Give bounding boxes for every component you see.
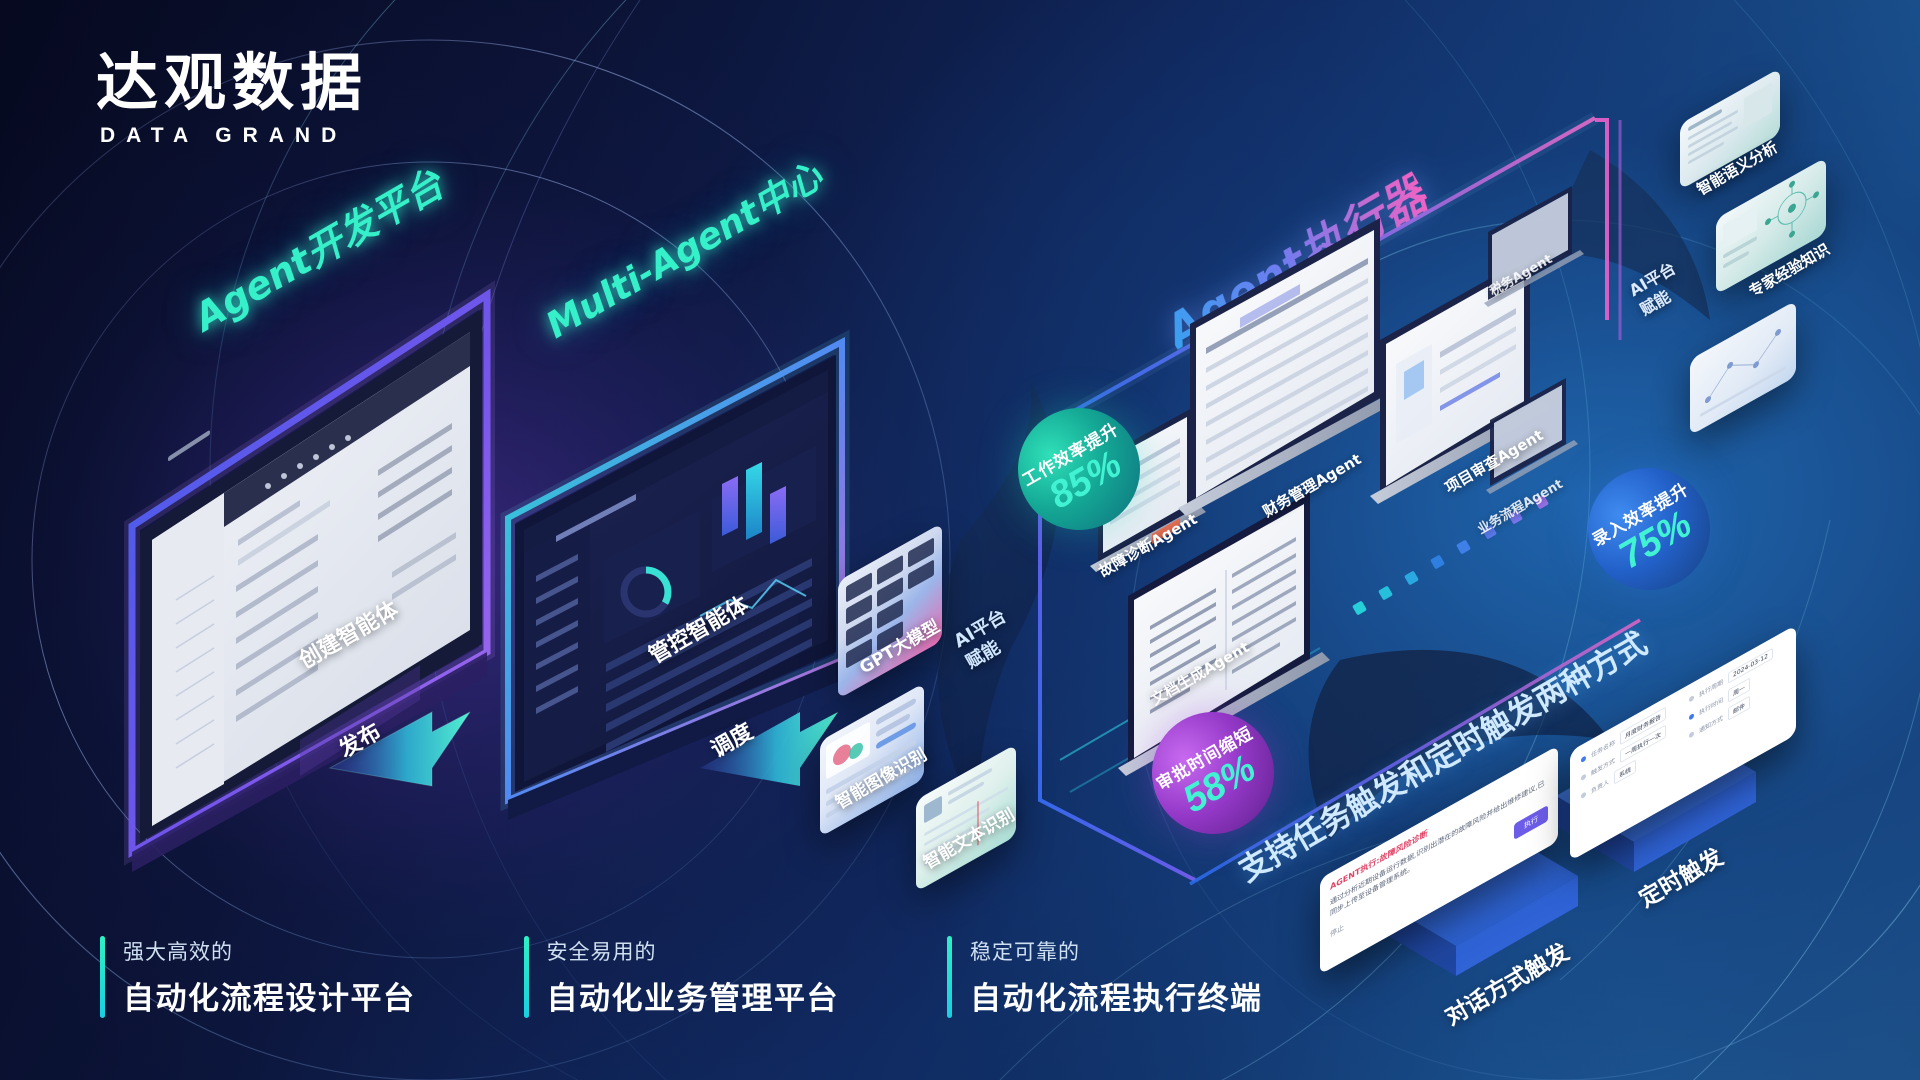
timed-card-key: 负责人: [1591, 776, 1609, 795]
stat-bubble-efficiency: 工作效率提升 85%: [996, 386, 1163, 553]
radio-icon[interactable]: [1581, 755, 1586, 763]
infographic-canvas: 达观数据 DATA GRAND: [0, 0, 1920, 1080]
caption-accent-bar: [947, 936, 952, 1018]
radio-icon[interactable]: [1689, 713, 1694, 721]
caption-small-1: 强大高效的: [123, 936, 416, 966]
radio-icon[interactable]: [1689, 731, 1694, 739]
caption-big-2: 自动化业务管理平台: [547, 973, 840, 1018]
label-agent-business-flow: 业务流程Agent: [1473, 473, 1565, 537]
brand-name-cn: 达观数据: [96, 52, 368, 114]
label-ai-platform-center: AI平台 赋能: [950, 605, 1023, 675]
caption-management-platform: 安全易用的 自动化业务管理平台: [524, 936, 840, 1018]
label-ai-platform-right: AI平台 赋能: [1625, 258, 1690, 321]
label-dispatch: 调度: [704, 714, 758, 764]
caption-small-2: 安全易用的: [547, 936, 840, 966]
caption-accent-bar: [524, 936, 529, 1018]
caption-accent-bar: [100, 936, 105, 1018]
caption-execution-terminal: 稳定可靠的 自动化流程执行终端: [947, 936, 1263, 1018]
caption-big-1: 自动化流程设计平台: [123, 973, 416, 1018]
brand-logo: 达观数据 DATA GRAND: [96, 52, 368, 148]
caption-small-3: 稳定可靠的: [970, 936, 1263, 966]
card-knowledge-graph: [1690, 300, 1796, 435]
label-publish: 发布: [332, 714, 386, 764]
mid-section-title: Multi-Agent中心: [535, 148, 830, 349]
left-section-title: Agent开发平台: [182, 154, 452, 341]
radio-icon[interactable]: [1689, 695, 1694, 703]
stat-bubble-entry: 录入效率提升 75%: [1566, 446, 1733, 613]
label-create-agent: 创建智能体: [292, 592, 403, 675]
card-gpt-model: [838, 523, 942, 699]
caption-big-3: 自动化流程执行终端: [970, 973, 1263, 1018]
bottom-captions: 强大高效的 自动化流程设计平台 安全易用的 自动化业务管理平台 稳定可靠的 自动…: [100, 936, 1263, 1018]
label-manage-agent: 管控智能体: [642, 587, 753, 670]
label-chat-trigger: 对话方式触发: [1438, 933, 1575, 1031]
trigger-chat-secondary[interactable]: 停止: [1330, 923, 1344, 941]
radio-icon[interactable]: [1581, 773, 1586, 781]
brand-name-en: DATA GRAND: [96, 124, 368, 148]
label-agent-finance: 财务管理Agent: [1259, 448, 1365, 521]
right-section-title: Agent执行器: [1152, 158, 1438, 361]
label-agent-document: 文档生成Agent: [1147, 636, 1253, 709]
caption-design-platform: 强大高效的 自动化流程设计平台: [100, 936, 416, 1018]
label-agent-tax: 税务Agent: [1485, 248, 1555, 299]
label-timed-trigger: 定时触发: [1632, 838, 1729, 913]
radio-icon[interactable]: [1581, 791, 1586, 799]
